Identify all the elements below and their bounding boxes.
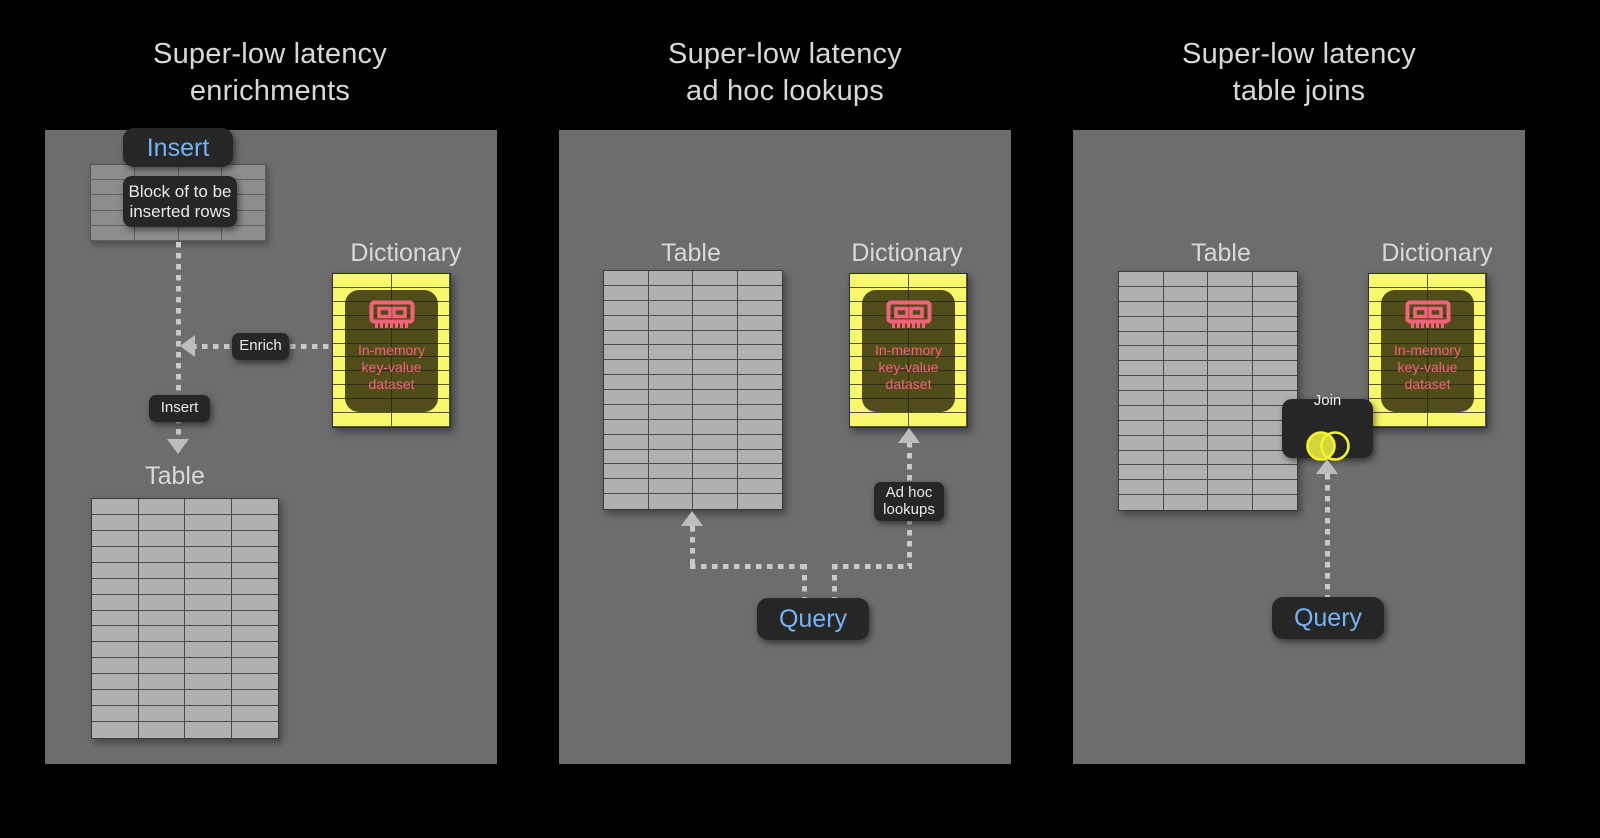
- grid-cell: [604, 331, 649, 346]
- in-memory-overlay-1: In-memory key-value dataset: [345, 290, 438, 412]
- grid-cell: [139, 626, 186, 642]
- grid-cell: [1119, 436, 1164, 451]
- grid-cell: [232, 674, 279, 690]
- ram-icon: [368, 299, 416, 336]
- table-grid-2: [603, 270, 783, 510]
- grid-cell: [1119, 421, 1164, 436]
- grid-cell: [604, 435, 649, 450]
- grid-cell: [1164, 451, 1209, 466]
- grid-cell: [232, 706, 279, 722]
- grid-cell: [1428, 413, 1487, 427]
- grid-cell: [1119, 317, 1164, 332]
- grid-cell: [232, 626, 279, 642]
- label-dictionary-1: Dictionary: [326, 238, 486, 268]
- grid-cell: [1119, 346, 1164, 361]
- grid-cell: [1119, 465, 1164, 480]
- panel-ad-hoc-lookups: Table Dictionary In-memory ke: [559, 130, 1011, 764]
- grid-cell: [693, 435, 738, 450]
- grid-cell: [232, 722, 279, 738]
- grid-cell: [909, 274, 968, 288]
- grid-cell: [232, 547, 279, 563]
- grid-cell: [91, 226, 135, 241]
- chip-query-3[interactable]: Query: [1272, 597, 1384, 639]
- grid-cell: [92, 674, 139, 690]
- grid-cell: [649, 286, 694, 301]
- grid-cell: [693, 405, 738, 420]
- grid-cell: [693, 464, 738, 479]
- grid-cell: [185, 595, 232, 611]
- grid-cell: [1253, 495, 1298, 510]
- grid-cell: [604, 271, 649, 286]
- grid-cell: [693, 494, 738, 509]
- grid-cell: [1119, 480, 1164, 495]
- grid-cell: [1119, 495, 1164, 510]
- grid-cell: [738, 405, 783, 420]
- grid-cell: [604, 286, 649, 301]
- grid-cell: [649, 405, 694, 420]
- in-memory-label-1: In-memory key-value dataset: [358, 342, 425, 393]
- grid-cell: [1208, 376, 1253, 391]
- grid-cell: [92, 579, 139, 595]
- grid-cell: [185, 674, 232, 690]
- grid-cell: [693, 301, 738, 316]
- grid-cell: [1253, 302, 1298, 317]
- grid-cell: [649, 420, 694, 435]
- grid-cell: [1208, 406, 1253, 421]
- grid-cell: [1164, 287, 1209, 302]
- grid-cell: [738, 331, 783, 346]
- arrow-join-up: [1316, 459, 1338, 474]
- grid-cell: [693, 271, 738, 286]
- grid-cell: [1164, 406, 1209, 421]
- ram-icon: [885, 299, 933, 336]
- chip-insert-top[interactable]: Insert: [123, 128, 233, 167]
- grid-cell: [92, 563, 139, 579]
- grid-cell: [1164, 480, 1209, 495]
- grid-cell: [392, 413, 451, 427]
- grid-cell: [139, 706, 186, 722]
- grid-cell: [649, 450, 694, 465]
- join-label: Join: [1314, 393, 1342, 409]
- grid-cell: [604, 390, 649, 405]
- grid-cell: [1119, 361, 1164, 376]
- grid-cell: [649, 375, 694, 390]
- grid-cell: [139, 674, 186, 690]
- grid-cell: [139, 722, 186, 738]
- grid-cell: [1208, 465, 1253, 480]
- grid-cell: [1208, 346, 1253, 361]
- grid-cell: [232, 690, 279, 706]
- chip-query-2[interactable]: Query: [757, 598, 869, 640]
- grid-cell: [909, 413, 968, 427]
- grid-cell: [1164, 421, 1209, 436]
- grid-cell: [1208, 436, 1253, 451]
- grid-cell: [738, 494, 783, 509]
- grid-cell: [185, 706, 232, 722]
- grid-cell: [693, 331, 738, 346]
- grid-cell: [92, 722, 139, 738]
- grid-cell: [1253, 361, 1298, 376]
- in-memory-label-2: In-memory key-value dataset: [875, 342, 942, 393]
- grid-cell: [92, 547, 139, 563]
- grid-cell: [392, 274, 451, 288]
- panel-enrichments: Insert Block of to be inserted rows Enri…: [45, 130, 497, 764]
- grid-cell: [1253, 346, 1298, 361]
- grid-cell: [649, 360, 694, 375]
- grid-cell: [185, 563, 232, 579]
- grid-cell: [232, 531, 279, 547]
- grid-cell: [604, 450, 649, 465]
- grid-cell: [1119, 287, 1164, 302]
- grid-cell: [139, 658, 186, 674]
- grid-cell: [139, 515, 186, 531]
- grid-cell: [92, 595, 139, 611]
- grid-cell: [139, 499, 186, 515]
- grid-cell: [649, 301, 694, 316]
- grid-cell: [850, 413, 909, 427]
- grid-cell: [693, 390, 738, 405]
- table-grid-3: [1118, 271, 1298, 511]
- grid-cell: [1164, 302, 1209, 317]
- grid-cell: [333, 413, 392, 427]
- grid-cell: [693, 479, 738, 494]
- grid-cell: [139, 531, 186, 547]
- chip-enrich[interactable]: Enrich: [232, 333, 289, 360]
- grid-cell: [185, 531, 232, 547]
- grid-cell: [1253, 376, 1298, 391]
- grid-cell: [185, 611, 232, 627]
- grid-cell: [1119, 376, 1164, 391]
- label-table-3: Table: [1161, 238, 1281, 268]
- grid-cell: [185, 579, 232, 595]
- grid-cell: [1164, 436, 1209, 451]
- grid-cell: [92, 515, 139, 531]
- in-memory-overlay-2: In-memory key-value dataset: [862, 290, 955, 412]
- grid-cell: [185, 658, 232, 674]
- grid-cell: [604, 345, 649, 360]
- panel-title-enrichments: Super-low latency enrichments: [45, 36, 495, 110]
- grid-cell: [1208, 451, 1253, 466]
- grid-cell: [1369, 274, 1428, 288]
- grid-cell: [232, 515, 279, 531]
- grid-cell: [179, 226, 223, 241]
- grid-cell: [1119, 391, 1164, 406]
- grid-cell: [185, 499, 232, 515]
- grid-cell: [649, 316, 694, 331]
- grid-cell: [1208, 287, 1253, 302]
- grid-cell: [1119, 272, 1164, 287]
- grid-cell: [232, 642, 279, 658]
- grid-cell: [604, 316, 649, 331]
- grid-cell: [649, 494, 694, 509]
- grid-cell: [738, 390, 783, 405]
- grid-cell: [1253, 480, 1298, 495]
- grid-cell: [1208, 317, 1253, 332]
- label-dictionary-2: Dictionary: [827, 238, 987, 268]
- grid-cell: [1164, 346, 1209, 361]
- grid-cell: [1208, 272, 1253, 287]
- grid-cell: [649, 479, 694, 494]
- grid-cell: [604, 479, 649, 494]
- label-table-2: Table: [631, 238, 751, 268]
- grid-cell: [1164, 272, 1209, 287]
- grid-cell: [649, 390, 694, 405]
- grid-cell: [1208, 495, 1253, 510]
- arrow-dictionary-up: [898, 428, 920, 443]
- grid-cell: [1208, 302, 1253, 317]
- grid-cell: [738, 316, 783, 331]
- grid-cell: [738, 360, 783, 375]
- grid-cell: [1369, 413, 1428, 427]
- grid-cell: [1164, 465, 1209, 480]
- grid-cell: [139, 563, 186, 579]
- grid-cell: [738, 450, 783, 465]
- label-dictionary-3: Dictionary: [1357, 238, 1517, 268]
- grid-cell: [604, 405, 649, 420]
- grid-cell: [92, 706, 139, 722]
- grid-cell: [1164, 361, 1209, 376]
- chip-join[interactable]: Join: [1282, 399, 1373, 458]
- table-grid-1: [91, 498, 279, 739]
- grid-cell: [693, 316, 738, 331]
- grid-cell: [1119, 332, 1164, 347]
- grid-cell: [185, 547, 232, 563]
- grid-cell: [139, 547, 186, 563]
- connector-query-to-join: [1325, 474, 1330, 604]
- grid-cell: [649, 331, 694, 346]
- grid-cell: [693, 360, 738, 375]
- grid-cell: [1253, 332, 1298, 347]
- grid-cell: [1164, 317, 1209, 332]
- grid-cell: [92, 626, 139, 642]
- panel-title-table-joins: Super-low latency table joins: [1073, 36, 1525, 110]
- grid-cell: [1253, 272, 1298, 287]
- grid-cell: [1208, 332, 1253, 347]
- grid-cell: [139, 579, 186, 595]
- grid-cell: [1119, 302, 1164, 317]
- grid-cell: [92, 642, 139, 658]
- grid-cell: [1208, 361, 1253, 376]
- in-memory-overlay-3: In-memory key-value dataset: [1381, 290, 1474, 412]
- grid-cell: [222, 226, 266, 241]
- grid-cell: [649, 271, 694, 286]
- connector-query-left-h: [690, 564, 806, 569]
- grid-cell: [604, 301, 649, 316]
- grid-cell: [1208, 421, 1253, 436]
- grid-cell: [1253, 317, 1298, 332]
- grid-cell: [1208, 480, 1253, 495]
- label-table-1: Table: [115, 461, 235, 491]
- grid-cell: [92, 690, 139, 706]
- grid-cell: [604, 375, 649, 390]
- grid-cell: [738, 420, 783, 435]
- diagram-canvas: Super-low latency enrichments Insert Blo…: [0, 0, 1600, 838]
- in-memory-label-3: In-memory key-value dataset: [1394, 342, 1461, 393]
- grid-cell: [604, 420, 649, 435]
- grid-cell: [649, 464, 694, 479]
- grid-cell: [693, 345, 738, 360]
- grid-cell: [185, 642, 232, 658]
- grid-cell: [850, 274, 909, 288]
- grid-cell: [185, 690, 232, 706]
- grid-cell: [333, 274, 392, 288]
- grid-cell: [693, 286, 738, 301]
- grid-cell: [738, 345, 783, 360]
- grid-cell: [1164, 376, 1209, 391]
- grid-cell: [135, 226, 179, 241]
- grid-cell: [604, 464, 649, 479]
- grid-cell: [649, 345, 694, 360]
- grid-cell: [604, 360, 649, 375]
- grid-cell: [1119, 406, 1164, 421]
- grid-cell: [1164, 332, 1209, 347]
- grid-cell: [139, 611, 186, 627]
- grid-cell: [92, 499, 139, 515]
- grid-cell: [92, 658, 139, 674]
- chip-block-of-rows[interactable]: Block of to be inserted rows: [123, 176, 237, 227]
- grid-cell: [604, 494, 649, 509]
- grid-cell: [139, 595, 186, 611]
- grid-cell: [232, 563, 279, 579]
- grid-cell: [693, 450, 738, 465]
- arrow-table-up: [681, 511, 703, 526]
- grid-cell: [1164, 495, 1209, 510]
- arrow-enrich-left: [180, 335, 195, 357]
- grid-cell: [232, 499, 279, 515]
- ram-icon: [1404, 299, 1452, 336]
- grid-cell: [1253, 287, 1298, 302]
- grid-cell: [139, 642, 186, 658]
- panel-title-ad-hoc-lookups: Super-low latency ad hoc lookups: [559, 36, 1011, 110]
- grid-cell: [185, 515, 232, 531]
- grid-cell: [232, 611, 279, 627]
- grid-cell: [738, 464, 783, 479]
- chip-insert-bottom[interactable]: Insert: [149, 395, 210, 422]
- grid-cell: [738, 479, 783, 494]
- grid-cell: [738, 435, 783, 450]
- panel-table-joins: Table Dictionary In-memory ke: [1073, 130, 1525, 764]
- chip-ad-hoc-lookups[interactable]: Ad hoc lookups: [874, 482, 944, 521]
- grid-cell: [1164, 391, 1209, 406]
- connector-query-left-up: [690, 526, 695, 566]
- grid-cell: [1119, 451, 1164, 466]
- grid-cell: [1208, 391, 1253, 406]
- grid-cell: [738, 271, 783, 286]
- grid-cell: [185, 626, 232, 642]
- grid-cell: [738, 375, 783, 390]
- grid-cell: [693, 420, 738, 435]
- grid-cell: [693, 375, 738, 390]
- grid-cell: [139, 690, 186, 706]
- grid-cell: [232, 579, 279, 595]
- connector-query-right-h: [832, 564, 912, 569]
- venn-join-icon: [1297, 410, 1359, 467]
- arrow-insert-down: [167, 439, 189, 454]
- grid-cell: [232, 658, 279, 674]
- grid-cell: [92, 531, 139, 547]
- grid-cell: [92, 611, 139, 627]
- grid-cell: [1253, 465, 1298, 480]
- grid-cell: [738, 301, 783, 316]
- grid-cell: [1428, 274, 1487, 288]
- grid-cell: [649, 435, 694, 450]
- grid-cell: [738, 286, 783, 301]
- grid-cell: [185, 722, 232, 738]
- grid-cell: [232, 595, 279, 611]
